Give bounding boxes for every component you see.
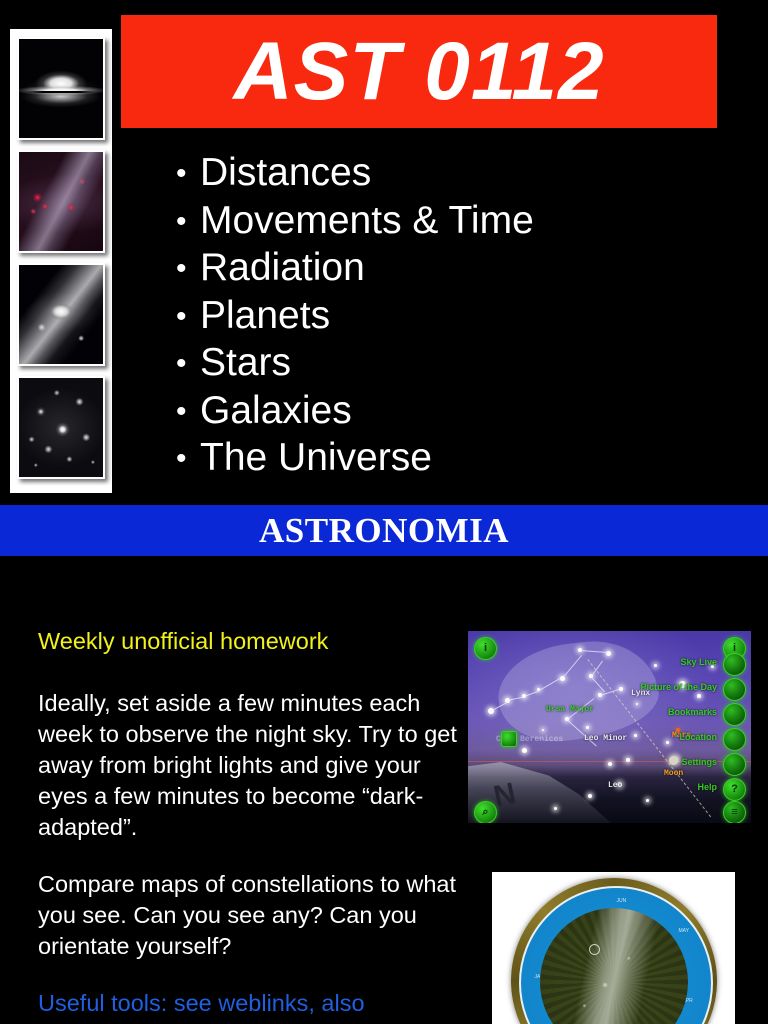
star-point [646, 799, 649, 802]
homework-paragraph-1: Ideally, set aside a few minutes each we… [38, 688, 458, 843]
text-column: Weekly unofficial homework Ideally, set … [38, 626, 458, 1019]
list-item: •Planets [176, 293, 534, 341]
bullet-icon: • [176, 294, 200, 341]
subtitle-label: ASTRONOMIA [259, 511, 509, 551]
topic-label: Planets [200, 294, 330, 337]
star-point [586, 726, 589, 729]
spiral-galaxy-photo [19, 265, 103, 364]
edge-on-galaxy-photo [19, 39, 103, 138]
sky-label-leo-minor: Leo Minor [584, 734, 627, 743]
topic-label: Movements & Time [200, 199, 534, 242]
star-point [636, 703, 638, 705]
star-point [608, 762, 612, 766]
thumbnail-spiral-galaxy [17, 263, 105, 366]
bullet-icon: • [176, 436, 200, 483]
homework-heading: Weekly unofficial homework [38, 626, 458, 657]
topic-label: Galaxies [200, 389, 352, 432]
galaxy-image-render [19, 39, 103, 138]
compass-marker-icon[interactable] [501, 731, 517, 747]
thumbnail-pink-nebula [17, 150, 105, 253]
star-point [634, 734, 637, 737]
bookmarks-icon[interactable] [723, 703, 746, 726]
star-point [588, 794, 592, 798]
page-title: AST 0112 [233, 31, 604, 113]
sky-live-icon[interactable] [723, 653, 746, 676]
nebula-image-render [19, 152, 103, 251]
title-slide: AST 0112 •Distances •Movements & Time •R… [0, 0, 768, 558]
star-point [626, 758, 630, 762]
bullet-icon: • [176, 341, 200, 388]
topic-label: Radiation [200, 246, 365, 289]
bullet-icon: • [176, 389, 200, 436]
photo-strip [10, 29, 112, 493]
spiral-image-render [19, 265, 103, 364]
moon-disc [669, 756, 678, 765]
info-icon[interactable]: i [474, 637, 497, 660]
sky-label-ursa-major: Ursa Major [546, 705, 594, 714]
bullet-icon: • [176, 246, 200, 293]
star-point [554, 807, 557, 810]
cluster-image-render [19, 378, 103, 477]
list-item: •Distances [176, 150, 534, 198]
bullet-icon: • [176, 199, 200, 246]
star-point [522, 748, 527, 753]
star-point [697, 694, 701, 698]
title-banner: AST 0112 [121, 15, 717, 128]
list-item: •Radiation [176, 245, 534, 293]
menu-item-sky-live[interactable]: Sky Live [680, 657, 717, 667]
help-icon[interactable]: ? [723, 778, 746, 801]
list-item: •Stars [176, 340, 534, 388]
planisphere-star-wheel: JAN FEB MAR APR MAY JUN [492, 872, 735, 1024]
thumbnail-edge-on-galaxy [17, 37, 105, 140]
sky-label-leo: Leo [608, 781, 622, 790]
location-globe-icon[interactable] [723, 728, 746, 751]
topic-label: Distances [200, 151, 371, 194]
topic-label: The Universe [200, 436, 432, 479]
useful-tools-link[interactable]: Useful tools: see weblinks, also [38, 988, 458, 1019]
menu-item-picture-of-the-day[interactable]: Picture of the Day [640, 682, 717, 692]
object-label-moon: Moon [664, 769, 683, 778]
topic-list: •Distances •Movements & Time •Radiation … [176, 150, 534, 483]
star-point [666, 741, 669, 744]
settings-wrench-icon[interactable] [723, 753, 746, 776]
bullet-icon: • [176, 151, 200, 198]
star-chart-app-screenshot: N Ursa Major Leo Minor Leo Lynx Coma Ber… [468, 631, 751, 823]
galaxy-cluster-photo [19, 378, 103, 477]
list-menu-icon[interactable]: ≡ [723, 801, 746, 823]
search-icon[interactable]: ⌕ [474, 801, 497, 823]
subtitle-banner: ASTRONOMIA [0, 505, 768, 556]
list-item: •Movements & Time [176, 198, 534, 246]
topic-label: Stars [200, 341, 291, 384]
menu-item-bookmarks[interactable]: Bookmarks [668, 707, 717, 717]
menu-item-location[interactable]: Location [680, 732, 718, 742]
menu-item-help[interactable]: Help [697, 782, 717, 792]
planisphere-hub [589, 944, 600, 955]
pink-nebula-photo [19, 152, 103, 251]
star-point [654, 664, 657, 667]
list-item: •The Universe [176, 435, 534, 483]
picture-of-the-day-icon[interactable] [723, 678, 746, 701]
star-point [542, 729, 544, 731]
thumbnail-galaxy-cluster [17, 376, 105, 479]
list-item: •Galaxies [176, 388, 534, 436]
homework-paragraph-2: Compare maps of constellations to what y… [38, 869, 458, 962]
menu-item-settings[interactable]: Settings [681, 757, 717, 767]
